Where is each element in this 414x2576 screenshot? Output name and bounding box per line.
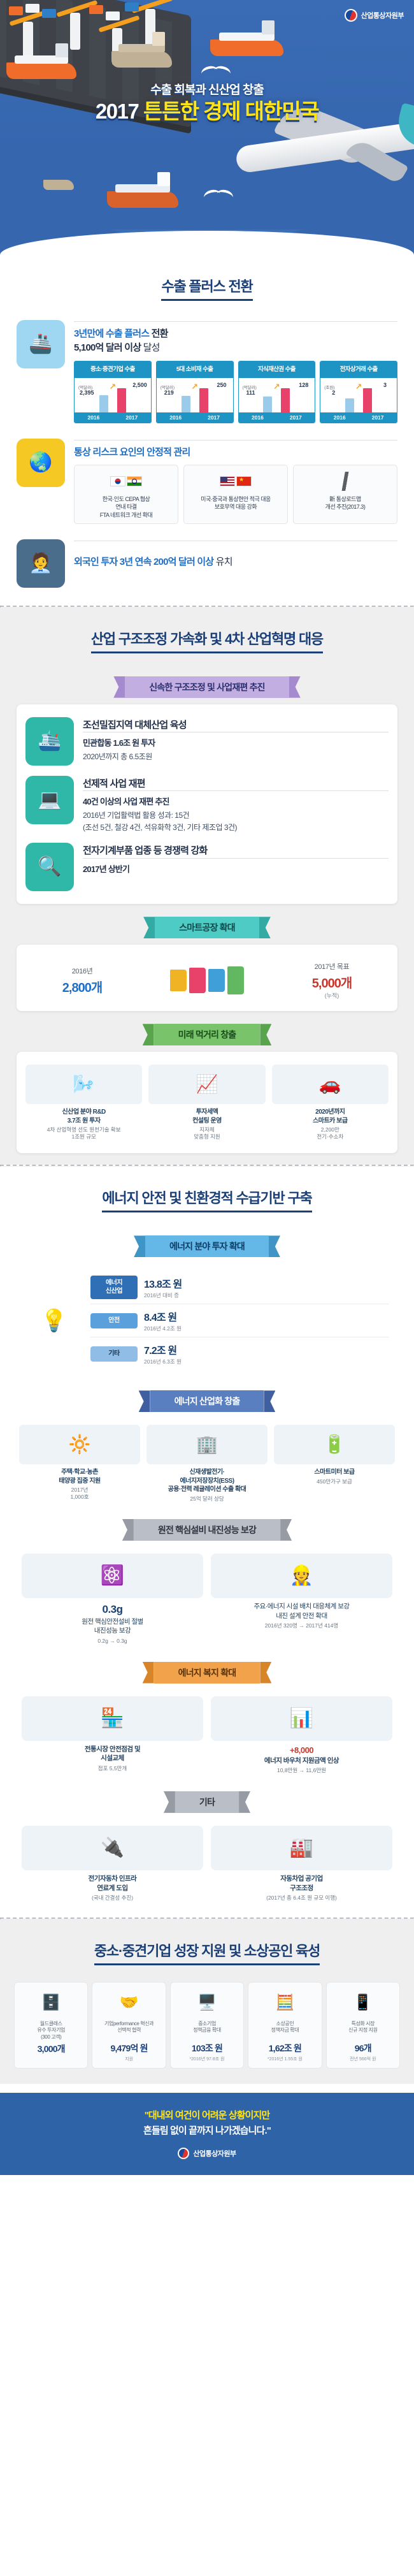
welfare-item-voucher: 📊 +8,000 에너지 바우처 지원금액 인상 10,8만원 → 11,6만원 [211,1696,392,1775]
row-note: 2016년 4.2조 원 [144,1325,389,1332]
cargo-ship-icon [111,51,172,68]
item-title: 투자세액 컨설팅 운영 [148,1108,265,1125]
sme-grid: 🗄️ 월드클래스 유수 투자기업 (300 고객) 3,000개 🤝 기업per… [0,1976,414,2072]
bar-2017 [199,388,208,412]
section-export-head: 수출 플러스 전환 [0,259,414,311]
item-caption: 중소기업 정책금융 확대 [173,2021,241,2040]
energy-row-safety: 안전 8.4조 원 2016년 4.2조 원 [90,1304,389,1337]
export-amount-rest: 달성 [141,342,159,353]
future-item-investment: 📈 투자세액 컨설팅 운영 지자체 맞춤형 지원 [148,1065,265,1140]
section-restructuring-head: 산업 구조조정 가속화 및 4차 산업혁명 대응 [0,611,414,664]
nuclear-grid: ⚛️ 0.3g 원전 핵심안전설비 절별 내진성능 보강 0.2g → 0.3g… [0,1547,414,1649]
row-value: 8.4조 원 [144,1313,176,1323]
smart-factory-2017: 2017년 목표 5,000개 (누적) [297,961,367,1000]
ministry-logo: 산업통상자원부 [345,9,404,22]
seagull-icon [201,66,231,79]
battery-storage-icon: 🔋 [274,1425,395,1464]
section-sme-head: 중소·중견기업 성장 지원 및 소상공인 육성 [0,1923,414,1976]
mini-body: (억달러) ↗ 219 250 [157,378,233,412]
ribbon-restructuring-wrap: 신속한 구조조정 및 사업재편 추진 [0,676,414,698]
future-item-newindustry: 🚗 2020년까지 스마트카 보급 2,200만 전기·수소차 [272,1065,389,1140]
container-icon [42,9,56,18]
sme-item-microbusiness: 🧮 소상공인 정책자금 확대 1,62조 원 *2016년 1.55조 원 [248,1982,322,2069]
hero-subtitle: 수출 회복과 신산업 창출 [0,80,414,98]
ribbon-nuclear: 원전 핵심설비 내진성능 보강 [134,1519,280,1541]
row-badge: 기타 [90,1346,138,1362]
footer-banner: "대내외 여건이 어려운 상황이지만 흔들림 없이 끝까지 나가겠습니다." 산… [0,2093,414,2175]
etc-item-ev: 🔌 전기자동차 인프라 연료계 도입 (국내 간결성 추진) [22,1826,203,1902]
trade-risk-title: 통상 리스크 요인의 안정적 관리 [74,446,397,460]
mini-title: 지식재산권 수출 [239,361,315,378]
row-business-restructuring: 💻 선제적 사업 재편 40건 이상의 사업 재편 추진 2016년 기업활력법… [25,771,389,838]
row-line1: 40건 이상의 사업 재편 추진 [83,796,389,808]
server-rack-icon: 🗄️ [17,1989,85,2017]
section-sme: 중소·중견기업 성장 지원 및 소상공인 육성 🗄️ 월드클래스 유수 투자기업… [0,1919,414,2084]
row-note: 2016년 대비 증 [144,1292,389,1299]
ribbon-future-growth-wrap: 미래 먹거리 창출 [0,1024,414,1045]
row-line3: (조선 5건, 철강 4건, 석유화학 3건, 기타 제조업 3건) [83,822,389,833]
sf-year-label: 2016년 [47,966,117,976]
energy-item-smartmeter: 🔋 스마트미터 보급 450만가구 보급 [274,1425,395,1503]
item-value: 1,62조 원 [251,2042,318,2055]
mini-chart-ip-export: 지식재산권 수출 (억달러) ↗ 111 128 20 [238,361,316,423]
safety-manager-icon: 👷 [211,1554,392,1598]
energy-voucher-icon: 📊 [211,1696,392,1741]
row-badge: 안전 [90,1313,138,1329]
export-block-trade-risk: 🌏 통상 리스크 요인의 안정적 관리 한국·인도 CEPA 협상 연내 타결 … [0,430,414,530]
globe-airplane-icon: 🌏 [17,439,65,487]
energy-row-newindustry: 에너지 신산업 13.8조 원 2016년 대비 증 [90,1271,389,1304]
divider [83,858,389,859]
mini-axis-2017: 2017 [113,412,151,423]
container-icon [9,6,23,15]
small-boat-icon [43,180,74,190]
item-sub: (2017년 총 6.4조 원 규모 이행) [211,1895,392,1902]
section-energy-title: 에너지 안전 및 친환경적 수급기반 구축 [102,1187,311,1212]
mini-axis-2016: 2016 [239,412,277,423]
item-note: *2016년 1.55조 원 [251,2056,318,2062]
ribbon-smart-factory: 스마트공장 확대 [155,917,259,938]
bar-2016 [263,397,272,412]
mobile-store-icon: 📱 [329,1989,397,2017]
ribbon-energy-industry-wrap: 에너지 산업화 창출 [0,1390,414,1412]
item-sub: 2016년 320명 → 2017년 414명 [211,1622,392,1629]
investor-icon: 🧑‍💼 [17,539,65,588]
ribbon-energy-invest-wrap: 에너지 분야 투자 확대 [0,1235,414,1257]
mini-axis-2017: 2017 [195,412,233,423]
export-block-fdi: 🧑‍💼 외국인 투자 3년 연속 200억 달러 이상 유치 [0,530,414,594]
fdi-body: 외국인 투자 3년 연속 200억 달러 이상 유치 [74,539,397,569]
row-badge: 에너지 신산업 [90,1276,138,1299]
bar-2016 [99,395,108,412]
panel-energy-invest: 💡 에너지 신산업 13.8조 원 2016년 대비 증 안전 8.4조 원 [17,1263,397,1378]
row-business-body: 선제적 사업 재편 40건 이상의 사업 재편 추진 2016년 기업활력법 활… [83,776,389,833]
future-growth-grid: 🌬️ 신산업 분야 R&D 3.7조 원 투자 4차 산업혁명 선도 원천기술 … [25,1059,389,1146]
future-item-rnd: 🌬️ 신산업 분야 R&D 3.7조 원 투자 4차 산업혁명 선도 원천기술 … [25,1065,142,1140]
roadmap-icon [297,470,394,492]
seagull-icon [204,190,233,203]
bar-2016 [345,398,354,412]
etc-item-auto: 🏭 자동차업 공기업 구조조정 (2017년 총 6.4조 원 규모 이행) [211,1826,392,1902]
ministry-name: 산업통상자원부 [361,10,404,20]
mini-body: (억달러) ↗ 2,395 2,500 [75,378,151,412]
section-restructuring: 산업 구조조정 가속화 및 4차 산업혁명 대응 신속한 구조조정 및 사업재편… [0,608,414,1165]
ribbon-nuclear-wrap: 원전 핵심설비 내진성능 보강 [0,1519,414,1541]
container-icon [89,5,103,14]
ribbon-etc-wrap: 기타 [0,1791,414,1813]
divider [83,790,389,791]
taegeuk-icon [178,2148,189,2159]
row-line2: 2016년 기업활력법 활용 성과: 15건 [83,810,389,820]
item-sub: 10,8만원 → 11,6만원 [211,1767,392,1774]
mini-chart-sme-export: 중소·중견기업 수출 (억달러) ↗ 2,395 2,500 [74,361,152,423]
smart-factory-2016: 2016년 2,800개 [47,966,117,996]
energy-row-other: 기타 7.2조 원 2016년 6.3조 원 [90,1337,389,1370]
nuclear-item-manager: 👷 주요·에너지 시설 배치 대응체계 보강 내진 설계 안전 확대 2016년… [211,1554,392,1645]
bar-2017 [363,388,372,412]
investment-monitor-icon: 💻 [25,776,74,824]
item-title: 원전 핵심안전설비 절별 내진성능 보강 [22,1617,203,1636]
mini-axis-2016: 2016 [320,412,359,423]
energy-invest-list: 에너지 신산업 13.8조 원 2016년 대비 증 안전 8.4조 원 201… [90,1271,389,1370]
item-sub: 450만가구 보급 [274,1478,395,1485]
item-value: +8,000 [211,1745,392,1756]
sf-value: 5,000개 [297,973,367,991]
usa-china-trade-icon [187,470,284,492]
item-title: 에너지 바우처 지원금액 인상 [211,1756,392,1766]
fdi-rest: 유치 [213,557,232,567]
infographic-page: 산업통상자원부 수출 회복과 신산업 창출 2017 튼튼한 경제 대한민국 수… [0,0,414,2175]
mini-bars [157,386,233,412]
sf-note: (누적) [297,991,367,1000]
item-value: 103조 원 [173,2042,241,2055]
export-amount-title: 5,100억 달러 이상 달성 [74,341,397,355]
mini-footer: 2016 2017 [157,412,233,423]
item-caption: 소상공인 정책자금 확대 [251,2021,318,2040]
export-plus-rest: 전환 [149,328,168,339]
sme-item-partnership: 🤝 기업performance 혁신과 선택적 협력 9,479억 원 지원 [92,1982,166,2069]
item-title: 주택·학교·농촌 태양광 집중 지원 [19,1468,140,1485]
mini-title: 5대 소비재 수출 [157,361,233,378]
item-title: 주요·에너지 시설 배치 대응체계 보강 내진 설계 안전 확대 [211,1602,392,1620]
crane-icon [70,13,80,50]
card-caption: 新 통상로드맵 개선 추진(2017.3) [297,495,394,511]
ribbon-etc: 기타 [175,1791,239,1813]
section-export: 수출 플러스 전환 🚢 3년만에 수출 플러스 전환 5,100억 달러 이상 … [0,255,414,606]
mini-chart-ecommerce-export: 전자상거래 수출 (조원) ↗ 2 3 2016 [320,361,397,423]
energy-industry-grid: 🔆 주택·학교·농촌 태양광 집중 지원 2017년 1,000호 🏢 신재생발… [0,1418,414,1506]
item-title: 전통시장 안전점검 및 시설교체 [22,1745,203,1763]
row-title: 선제적 사업 재편 [83,777,389,791]
divider [74,321,397,322]
india-flag-icon [127,476,142,486]
item-sub: 0.2g → 0.3g [22,1638,203,1645]
row-title: 전자기계부품 업종 등 경쟁력 강화 [83,844,389,858]
mini-chart-consumer-goods: 5대 소비재 수출 (억달러) ↗ 219 250 2 [156,361,234,423]
section-sme-title: 중소·중견기업 성장 지원 및 소상공인 육성 [94,1940,320,1965]
item-value: 96개 [329,2042,397,2055]
trade-risk-body: 통상 리스크 요인의 안정적 관리 한국·인도 CEPA 협상 연내 타결 FT… [74,439,397,524]
item-title: 신재생발전기· 에너지저장장치(ESS) 공용·전력 레귤레이션 수출 확대 [146,1468,268,1494]
item-caption: 특성화 시장 신규 지정 지원 [329,2021,397,2040]
china-flag-icon [236,476,252,486]
row-title: 조선밀집지역 대체산업 육성 [83,718,389,732]
mini-bars [75,386,151,412]
welfare-item-market: 🏪 전통시장 안전점검 및 시설교체 점포 5,5만개 [22,1696,203,1775]
container-icon [106,11,120,20]
section-export-title: 수출 플러스 전환 [161,275,252,301]
korea-flag-icon [110,476,125,486]
container-icon [125,3,139,11]
row-line2: 2020년까지 총 6.5조원 [83,751,389,762]
row-value: 7.2조 원 [144,1346,176,1357]
export-amount-strong: 5,100억 달러 이상 [74,342,141,353]
item-value: 3,000개 [17,2042,85,2055]
mini-axis-2017: 2017 [276,412,315,423]
section-restructuring-title: 산업 구조조정 가속화 및 4차 산업혁명 대응 [91,628,323,653]
footer-quote-line2: 흔들림 없이 끝까지 나가겠습니다." [13,2123,401,2139]
container-ship-icon: 🚢 [17,320,65,368]
tanker-ship-icon [6,62,76,79]
sme-item-specialmarket: 📱 특성화 시장 신규 지정 지원 96개 전년 566억 원 [326,1982,400,2069]
footer-quote: "대내외 여건이 어려운 상황이지만 흔들림 없이 끝까지 나가겠습니다." [13,2108,401,2139]
shipyard-icon: 🛳️ [25,717,74,766]
hero-banner: 산업통상자원부 수출 회복과 신산업 창출 2017 튼튼한 경제 대한민국 [0,0,414,255]
ribbon-energy-invest: 에너지 분야 투자 확대 [145,1235,269,1257]
calculator-icon: 🧮 [251,1989,318,2017]
item-value: 9,479억 원 [95,2042,162,2055]
row-shipyard: 🛳️ 조선밀집지역 대체산업 육성 민관합동 1.6조 원 투자 2020년까지… [25,712,389,771]
bar-2016 [182,396,190,412]
item-title: 전기자동차 인프라 연료계 도입 [22,1874,203,1893]
handshake-icon: 🤝 [95,1989,162,2017]
book-icon [208,969,225,992]
trade-risk-cards: 한국·인도 CEPA 협상 연내 타결 FTA 네트워크 개선 확대 미국·중국… [74,465,397,523]
mini-body: (조원) ↗ 2 3 [320,378,397,412]
hero-headline: 2017 튼튼한 경제 대한민국 [0,100,414,124]
item-sub: (국내 간결성 추진) [22,1895,203,1902]
section-energy: 에너지 안전 및 친환경적 수급기반 구축 에너지 분야 투자 확대 💡 에너지… [0,1167,414,1917]
taegeuk-icon [345,9,357,22]
item-title: 신산업 분야 R&D 3.7조 원 투자 [25,1108,142,1125]
footer-quote-line1: "대내외 여건이 어려운 상황이지만 [13,2108,401,2123]
item-sub: 2,200만 전기·수소차 [272,1126,389,1140]
mini-axis-2016: 2016 [157,412,195,423]
mini-footer: 2016 2017 [320,412,397,423]
section-energy-head: 에너지 안전 및 친환경적 수급기반 구축 [0,1170,414,1223]
solar-panel-icon: 🔆 [19,1425,140,1464]
nuclear-item-seismic: ⚛️ 0.3g 원전 핵심안전설비 절별 내진성능 보강 0.2g → 0.3g [22,1554,203,1645]
item-sub: 25억 달러 상당 [146,1495,268,1503]
seismic-icon: ⚛️ [22,1554,203,1598]
mini-footer: 2016 2017 [75,412,151,423]
item-caption: 기업performance 혁신과 선택적 협력 [95,2021,162,2040]
building-complex-icon: 🏢 [146,1425,268,1464]
mini-footer: 2016 2017 [239,412,315,423]
auto-parts-icon: 🏭 [211,1826,392,1870]
card-us-china-trade: 미국·중국과 통상현안 적극 대응 보호무역 대응 강화 [183,465,288,523]
chip-analytics-icon: 🔍 [25,843,74,891]
book-icon [227,966,244,994]
export-mini-charts: 중소·중견기업 수출 (억달러) ↗ 2,395 2,500 [74,361,397,423]
divider [74,541,397,541]
item-title: 자동차업 공기업 구조조정 [211,1874,392,1893]
card-caption: 미국·중국과 통상현안 적극 대응 보호무역 대응 강화 [187,495,284,511]
row-value: 13.8조 원 [144,1279,182,1290]
item-title: 2020년까지 스마트카 보급 [272,1108,389,1125]
export-plus-strong: 3년만에 수출 플러스 [74,328,149,339]
export-plus-title: 3년만에 수출 플러스 전환 [74,327,397,341]
investment-growth-icon: 📈 [148,1065,265,1104]
crane-icon [23,22,33,59]
row-line1: 2017년 상반기 [83,864,389,876]
container-icon [25,4,39,13]
row-electronics-body: 전자기계부품 업종 등 경쟁력 강화 2017년 상반기 [83,843,389,876]
row-note: 2016년 6.3조 원 [144,1358,389,1365]
footer-ministry-logo: 산업통상자원부 [178,2148,236,2159]
item-sub: 4차 산업혁명 선도 원천기술 확보 1조원 규모 [25,1126,142,1140]
container-vessel-icon [107,191,178,208]
item-sub: 2017년 1,000호 [19,1487,140,1501]
smart-factory-compare: 2016년 2,800개 2017년 목표 5,000개 (누적) [25,952,389,1003]
ribbon-restructuring: 신속한 구조조정 및 사업재편 추진 [125,676,289,698]
row-line1: 민관합동 1.6조 원 투자 [83,738,389,750]
etc-grid: 🔌 전기자동차 인프라 연료계 도입 (국내 간결성 추진) 🏭 자동차업 공기… [0,1819,414,1906]
item-sub: 지자체 맞춤형 지원 [148,1126,265,1140]
row-electronics-competitiveness: 🔍 전자기계부품 업종 등 경쟁력 강화 2017년 상반기 [25,838,389,896]
smart-factory-books [117,966,297,994]
wind-turbine-icon: 🌬️ [25,1065,142,1104]
item-note: 전년 566억 원 [329,2056,397,2062]
card-trade-roadmap: 新 통상로드맵 개선 추진(2017.3) [293,465,397,523]
hero-headline-text: 튼튼한 경제 대한민국 [143,99,318,123]
bar-2017 [281,388,290,412]
book-icon [189,968,206,993]
growth-monitor-icon: 🖥️ [173,1989,241,2017]
hero-title-group: 수출 회복과 신산업 창출 2017 튼튼한 경제 대한민국 [0,80,414,124]
container-vessel-icon [210,40,283,56]
mini-body: (억달러) ↗ 111 128 [239,378,315,412]
mini-axis-2016: 2016 [75,412,113,423]
fdi-title: 외국인 투자 3년 연속 200억 달러 이상 유치 [74,546,397,569]
footer-ministry-name: 산업통상자원부 [193,2148,236,2158]
fdi-strong: 외국인 투자 3년 연속 200억 달러 이상 [74,557,213,567]
item-note: *2016년 97.8조 원 [173,2056,241,2062]
export-block-plus: 🚢 3년만에 수출 플러스 전환 5,100억 달러 이상 달성 중소·중견기업… [0,311,414,430]
export-block-plus-body: 3년만에 수출 플러스 전환 5,100억 달러 이상 달성 중소·중견기업 수… [74,320,397,423]
ribbon-energy-industry: 에너지 산업화 창출 [150,1390,264,1412]
lightbulb-icon: 💡 [25,1297,83,1344]
divider [74,440,397,440]
sme-item-policyfinance: 🖥️ 중소기업 정책금융 확대 103조 원 *2016년 97.8조 원 [170,1982,244,2069]
ev-charger-icon: 🔌 [22,1826,203,1870]
card-caption: 한국·인도 CEPA 협상 연내 타결 FTA 네트워크 개선 확대 [78,495,175,518]
item-caption: 월드클래스 유수 투자기업 (300 고객) [17,2021,85,2041]
panel-future-growth: 🌬️ 신산업 분야 R&D 3.7조 원 투자 4차 산업혁명 선도 원천기술 … [17,1052,397,1153]
sme-item-worldclass: 🗄️ 월드클래스 유수 투자기업 (300 고객) 3,000개 [14,1982,88,2069]
mini-title: 중소·중견기업 수출 [75,361,151,378]
divider [83,732,389,732]
ribbon-smart-factory-wrap: 스마트공장 확대 [0,917,414,938]
hero-year: 2017 [96,99,138,123]
item-value: 0.3g [22,1602,203,1617]
ribbon-future-growth: 미래 먹거리 창출 [154,1024,261,1045]
flags-korea-india-icon [78,470,175,492]
energy-item-ess: 🏢 신재생발전기· 에너지저장장치(ESS) 공용·전력 레귤레이션 수출 확대… [146,1425,268,1503]
energy-welfare-grid: 🏪 전통시장 안전점검 및 시설교체 점포 5,5만개 📊 +8,000 에너지… [0,1690,414,1779]
bar-2017 [117,388,126,412]
mini-title: 전자상거래 수출 [320,361,397,378]
book-icon [170,970,187,991]
mini-bars [239,386,315,412]
energy-item-solar: 🔆 주택·학교·농촌 태양광 집중 지원 2017년 1,000호 [19,1425,140,1503]
mini-axis-2017: 2017 [359,412,397,423]
item-title: 스마트미터 보급 [274,1468,395,1477]
new-industry-icon: 🚗 [272,1065,389,1104]
ribbon-energy-welfare: 에너지 복지 확대 [154,1662,261,1684]
item-note: 지원 [95,2056,162,2062]
ribbon-energy-welfare-wrap: 에너지 복지 확대 [0,1662,414,1684]
panel-restructuring: 🛳️ 조선밀집지역 대체산업 육성 민관합동 1.6조 원 투자 2020년까지… [17,704,397,905]
sf-year-label: 2017년 목표 [297,961,367,971]
mini-bars [320,386,397,412]
usa-flag-icon [220,476,235,486]
row-shipyard-body: 조선밀집지역 대체산업 육성 민관합동 1.6조 원 투자 2020년까지 총 … [83,717,389,762]
sf-value: 2,800개 [47,977,117,996]
panel-smart-factory: 2016년 2,800개 2017년 목표 5,000개 (누적) [17,945,397,1011]
card-korea-india-cepa: 한국·인도 CEPA 협상 연내 타결 FTA 네트워크 개선 확대 [74,465,178,523]
item-sub: 점포 5,5만개 [22,1765,203,1772]
store-icon: 🏪 [22,1696,203,1741]
